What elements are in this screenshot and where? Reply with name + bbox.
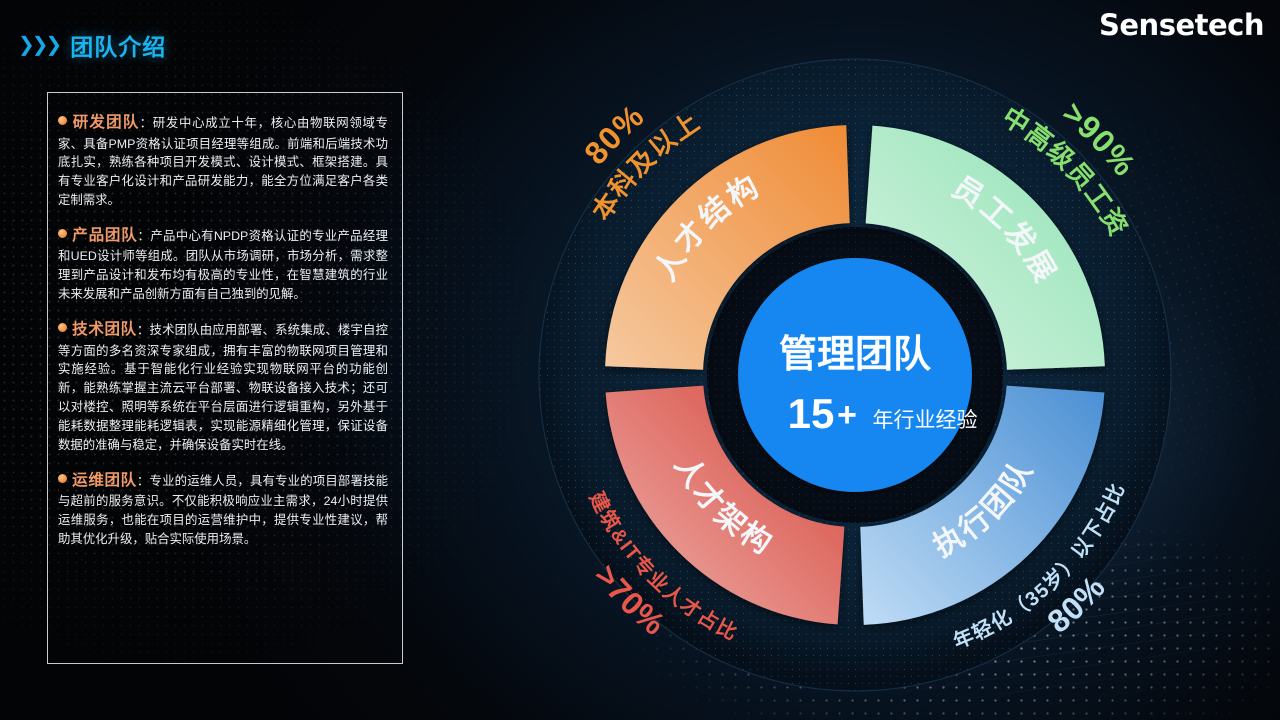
team-structure-donut-chart: 管理团队 15 + 年行业经验 人才结构员工发展执行团队人才架构本科及以上80%… [525,45,1185,705]
list-item-colon: ： [137,474,150,488]
list-item: 技术团队：技术团队由应用部署、系统集成、楼宇自控等方面的多名资深专家组成，拥有丰… [58,318,388,455]
list-item-colon: ： [138,229,151,243]
page-header: ❯❯❯ 团队介绍 [18,28,166,62]
list-item: 产品团队：产品中心有NPDP资格认证的专业产品经理和UED设计师等组成。团队从市… [58,224,388,304]
list-item-body: 技术团队由应用部署、系统集成、楼宇自控等方面的多名资深专家组成，拥有丰富的物联网… [58,323,388,452]
page-title: 团队介绍 [70,28,166,62]
list-item-heading: 技术团队 [72,321,137,338]
list-item-heading: 产品团队 [72,227,138,244]
chevron-right-icon: ❯❯❯ [18,35,59,55]
center-subtitle: 年行业经验 [873,409,978,432]
bullet-icon [58,323,67,332]
list-item-colon: ： [140,116,153,130]
info-panel: 研发团队：研发中心成立十年，核心由物联网领域专家、具备PMP资格认证项目经理等组… [47,92,403,664]
center-title: 管理团队 [779,334,932,376]
list-item-heading: 运维团队 [72,472,137,489]
bullet-icon [58,229,67,238]
slide-canvas: ❯❯❯ 团队介绍 Sensetech 研发团队：研发中心成立十年，核心由物联网领… [0,0,1280,720]
bullet-icon [58,116,67,125]
list-item-heading: 研发团队 [72,114,140,131]
list-item: 研发团队：研发中心成立十年，核心由物联网领域专家、具备PMP资格认证项目经理等组… [58,111,388,210]
list-item: 运维团队：专业的运维人员，具有专业的项目部署技能与超前的服务意识。不仅能积极响应… [58,469,388,549]
list-item-colon: ： [137,323,150,337]
brand-logo: Sensetech [1099,8,1264,42]
center-plus-sign: + [837,396,857,434]
center-big-number: 15 [788,390,835,437]
bullet-icon [58,474,67,483]
